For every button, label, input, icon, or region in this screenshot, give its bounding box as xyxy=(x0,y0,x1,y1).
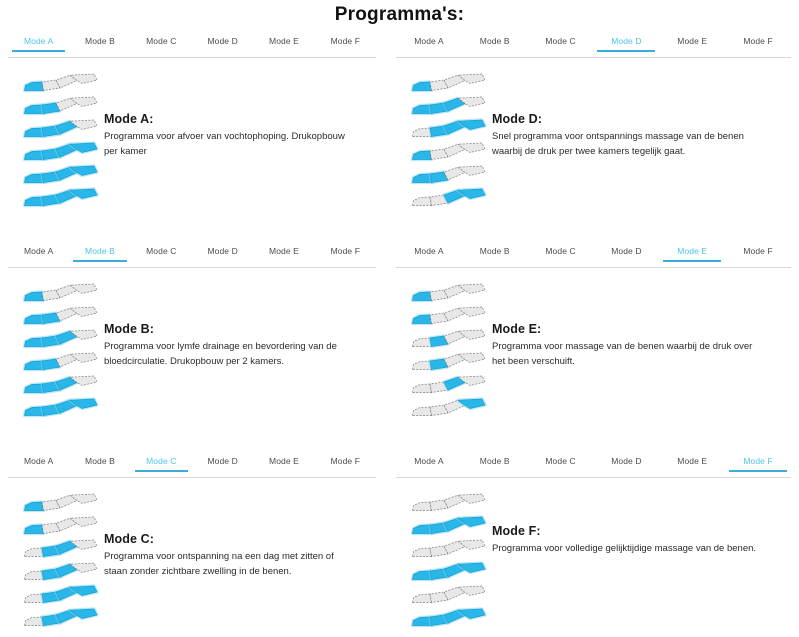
leg-chamber-0-empty xyxy=(413,502,432,511)
tab-mode-a[interactable]: Mode A xyxy=(8,243,69,261)
mode-description-a: Programma voor afvoer van vochtophoping.… xyxy=(104,130,356,159)
leg-figure xyxy=(410,492,488,514)
tab-mode-d[interactable]: Mode D xyxy=(593,453,659,471)
tabbar-mode-c[interactable]: Mode A Mode B Mode C Mode D Mode E Mode … xyxy=(8,453,376,478)
tab-mode-d[interactable]: Mode D xyxy=(593,243,659,261)
leg-frame-1 xyxy=(410,492,492,514)
tabbar-mode-f[interactable]: Mode A Mode B Mode C Mode D Mode E Mode … xyxy=(396,453,791,478)
tab-mode-e[interactable]: Mode E xyxy=(659,33,725,51)
leg-figure xyxy=(410,164,488,186)
leg-figure xyxy=(410,607,488,629)
mode-title-f: Mode F: xyxy=(492,524,781,538)
tab-mode-f[interactable]: Mode F xyxy=(315,243,376,261)
leg-frame-4 xyxy=(410,141,492,163)
leg-frame-6 xyxy=(410,607,492,629)
leg-figure xyxy=(410,397,488,419)
leg-figure xyxy=(22,164,100,186)
leg-frame-6 xyxy=(22,397,104,419)
leg-figure xyxy=(410,141,488,163)
tab-mode-b[interactable]: Mode B xyxy=(462,33,528,51)
leg-frame-2 xyxy=(22,95,104,117)
mode-description-f: Programma voor volledige gelijktijdige m… xyxy=(492,542,764,557)
tab-mode-e[interactable]: Mode E xyxy=(659,243,725,261)
tab-mode-a[interactable]: Mode A xyxy=(8,33,69,51)
leg-figure xyxy=(22,515,100,537)
mode-description-c: Programma voor ontspanning na een dag me… xyxy=(104,550,356,579)
tab-mode-e[interactable]: Mode E xyxy=(253,243,314,261)
leg-frame-6 xyxy=(22,187,104,209)
leg-figure xyxy=(22,72,100,94)
leg-frame-4 xyxy=(410,351,492,373)
leg-figure xyxy=(410,374,488,396)
leg-frame-6 xyxy=(22,607,104,629)
leg-figure xyxy=(22,328,100,350)
leg-frame-5 xyxy=(410,584,492,606)
leg-figure xyxy=(410,95,488,117)
tab-mode-a[interactable]: Mode A xyxy=(8,453,69,471)
leg-frame-3 xyxy=(22,328,104,350)
tabbar-mode-e[interactable]: Mode A Mode B Mode C Mode D Mode E Mode … xyxy=(396,243,791,268)
tab-mode-e[interactable]: Mode E xyxy=(253,33,314,51)
tab-mode-f[interactable]: Mode F xyxy=(315,33,376,51)
tabbar-mode-b[interactable]: Mode A Mode B Mode C Mode D Mode E Mode … xyxy=(8,243,376,268)
tab-mode-f[interactable]: Mode F xyxy=(315,453,376,471)
leg-frame-6 xyxy=(410,397,492,419)
leg-frame-5 xyxy=(410,164,492,186)
leg-sequence-mode-a xyxy=(8,68,104,210)
tab-mode-c[interactable]: Mode C xyxy=(528,453,594,471)
leg-figure xyxy=(22,305,100,327)
leg-frame-3 xyxy=(410,538,492,560)
leg-figure xyxy=(410,187,488,209)
leg-frame-5 xyxy=(410,374,492,396)
leg-sequence-mode-f xyxy=(396,488,492,630)
tab-mode-d[interactable]: Mode D xyxy=(192,453,253,471)
leg-figure xyxy=(22,374,100,396)
leg-figure xyxy=(22,584,100,606)
leg-frame-2 xyxy=(22,305,104,327)
leg-sequence-mode-c xyxy=(8,488,104,630)
leg-frame-1 xyxy=(22,72,104,94)
tab-mode-d[interactable]: Mode D xyxy=(593,33,659,51)
leg-figure xyxy=(22,538,100,560)
leg-figure xyxy=(22,95,100,117)
tab-mode-f[interactable]: Mode F xyxy=(725,33,791,51)
leg-figure xyxy=(410,328,488,350)
leg-figure xyxy=(22,282,100,304)
tab-mode-b[interactable]: Mode B xyxy=(69,243,130,261)
leg-chamber-0-empty xyxy=(413,384,432,393)
tab-mode-e[interactable]: Mode E xyxy=(659,453,725,471)
leg-sequence-mode-e xyxy=(396,278,492,420)
tab-mode-f[interactable]: Mode F xyxy=(725,243,791,261)
mode-description-b: Programma voor lymfe drainage en bevorde… xyxy=(104,340,356,369)
leg-chamber-0-empty xyxy=(413,197,432,206)
leg-frame-4 xyxy=(410,561,492,583)
tab-mode-a[interactable]: Mode A xyxy=(396,243,462,261)
leg-frame-2 xyxy=(410,95,492,117)
leg-sequence-mode-b xyxy=(8,278,104,420)
program-panel-mode-c: Mode A Mode B Mode C Mode D Mode E Mode … xyxy=(8,453,376,630)
leg-figure xyxy=(410,584,488,606)
leg-frame-1 xyxy=(22,282,104,304)
leg-figure xyxy=(410,561,488,583)
program-panel-mode-a: Mode A Mode B Mode C Mode D Mode E Mode … xyxy=(8,33,376,210)
tab-mode-e[interactable]: Mode E xyxy=(253,453,314,471)
tab-mode-c[interactable]: Mode C xyxy=(528,33,594,51)
program-panel-mode-b: Mode A Mode B Mode C Mode D Mode E Mode … xyxy=(8,243,376,420)
tab-mode-b[interactable]: Mode B xyxy=(462,453,528,471)
program-panel-mode-f: Mode A Mode B Mode C Mode D Mode E Mode … xyxy=(396,453,791,630)
tab-mode-c[interactable]: Mode C xyxy=(131,453,192,471)
tab-mode-a[interactable]: Mode A xyxy=(396,453,462,471)
leg-frame-3 xyxy=(22,118,104,140)
tabbar-mode-a[interactable]: Mode A Mode B Mode C Mode D Mode E Mode … xyxy=(8,33,376,58)
leg-frame-2 xyxy=(410,515,492,537)
tabbar-mode-d[interactable]: Mode A Mode B Mode C Mode D Mode E Mode … xyxy=(396,33,791,58)
leg-frame-3 xyxy=(410,118,492,140)
tab-mode-c[interactable]: Mode C xyxy=(131,243,192,261)
mode-title-a: Mode A: xyxy=(104,112,366,126)
leg-figure xyxy=(410,305,488,327)
leg-frame-1 xyxy=(410,282,492,304)
leg-figure xyxy=(22,397,100,419)
leg-figure xyxy=(410,515,488,537)
leg-frame-4 xyxy=(22,561,104,583)
leg-frame-1 xyxy=(410,72,492,94)
leg-figure xyxy=(22,492,100,514)
mode-description-d: Snel programma voor ontspannings massage… xyxy=(492,130,764,159)
tab-mode-d[interactable]: Mode D xyxy=(192,33,253,51)
leg-frame-5 xyxy=(22,374,104,396)
leg-sequence-mode-d xyxy=(396,68,492,210)
leg-figure xyxy=(410,538,488,560)
mode-title-d: Mode D: xyxy=(492,112,781,126)
leg-chamber-0-empty xyxy=(413,407,432,416)
leg-figure xyxy=(410,282,488,304)
leg-frame-5 xyxy=(22,584,104,606)
mode-title-c: Mode C: xyxy=(104,532,366,546)
tab-mode-c[interactable]: Mode C xyxy=(131,33,192,51)
leg-chamber-0-empty xyxy=(413,548,432,557)
programs-page: Programma's: Mode A Mode B Mode C Mode D… xyxy=(0,0,799,637)
page-title: Programma's: xyxy=(0,4,799,26)
leg-frame-6 xyxy=(410,187,492,209)
leg-figure xyxy=(22,187,100,209)
leg-frame-5 xyxy=(22,164,104,186)
tab-mode-d[interactable]: Mode D xyxy=(192,243,253,261)
leg-frame-2 xyxy=(22,515,104,537)
leg-frame-3 xyxy=(410,328,492,350)
tab-mode-f[interactable]: Mode F xyxy=(725,453,791,471)
tab-mode-b[interactable]: Mode B xyxy=(69,453,130,471)
leg-figure xyxy=(22,561,100,583)
leg-frame-1 xyxy=(22,492,104,514)
leg-frame-3 xyxy=(22,538,104,560)
leg-figure xyxy=(410,351,488,373)
mode-description-e: Programma voor massage van de benen waar… xyxy=(492,340,764,369)
tab-mode-a[interactable]: Mode A xyxy=(396,33,462,51)
leg-frame-4 xyxy=(22,141,104,163)
tab-mode-b[interactable]: Mode B xyxy=(69,33,130,51)
leg-frame-4 xyxy=(22,351,104,373)
leg-figure xyxy=(22,351,100,373)
leg-figure xyxy=(22,141,100,163)
tab-mode-c[interactable]: Mode C xyxy=(528,243,594,261)
leg-figure xyxy=(22,607,100,629)
leg-figure xyxy=(410,72,488,94)
leg-chamber-0-empty xyxy=(413,594,432,603)
leg-figure xyxy=(22,118,100,140)
program-panel-mode-d: Mode A Mode B Mode C Mode D Mode E Mode … xyxy=(396,33,791,210)
mode-title-b: Mode B: xyxy=(104,322,366,336)
leg-figure xyxy=(410,118,488,140)
mode-title-e: Mode E: xyxy=(492,322,781,336)
program-panel-mode-e: Mode A Mode B Mode C Mode D Mode E Mode … xyxy=(396,243,791,420)
tab-mode-b[interactable]: Mode B xyxy=(462,243,528,261)
leg-frame-2 xyxy=(410,305,492,327)
